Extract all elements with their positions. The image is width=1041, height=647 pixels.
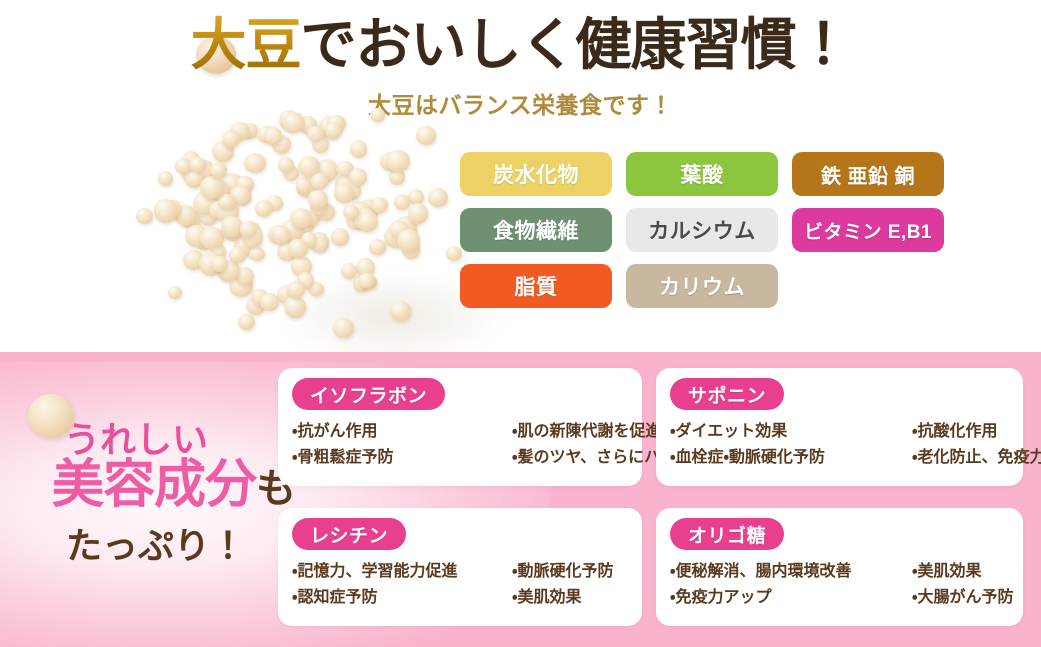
- benefit-card-label: イソフラボン: [292, 378, 445, 410]
- soybean: [349, 168, 368, 186]
- benefit-item: ・便秘解消、腸内環境改善: [670, 560, 906, 583]
- soybean: [200, 176, 223, 198]
- soybean: [222, 130, 240, 148]
- soybean: [308, 190, 328, 209]
- nutrient-tag-脂質[interactable]: 脂質: [460, 264, 612, 308]
- benefit-card-オリゴ糖: オリゴ糖・便秘解消、腸内環境改善・美肌効果・免疫力アップ・大腸がん予防: [656, 508, 1023, 626]
- nutrient-tag-カルシウム[interactable]: カルシウム: [626, 208, 778, 252]
- header-section: 大豆でおいしく健康習慣！ 大豆はバランス栄養食です！ 炭水化物葉酸鉄 亜鉛 銅食…: [0, 0, 1041, 352]
- benefit-item: ・動脈硬化予防: [512, 560, 613, 583]
- page-title: 大豆でおいしく健康習慣！: [0, 18, 1041, 74]
- soybean: [394, 194, 411, 210]
- infographic-page: 大豆でおいしく健康習慣！ 大豆はバランス栄養食です！ 炭水化物葉酸鉄 亜鉛 銅食…: [0, 0, 1041, 647]
- soybean: [333, 318, 354, 338]
- soybean: [287, 281, 304, 298]
- soybean: [136, 208, 153, 224]
- benefit-item: ・大腸がん予防: [912, 586, 1013, 609]
- benefit-item: ・美肌効果: [912, 560, 1013, 583]
- soybean: [371, 197, 387, 213]
- soybean: [158, 171, 173, 186]
- soybean: [154, 199, 178, 223]
- benefit-item: ・免疫力アップ: [670, 586, 906, 609]
- title-rest: でおいしく健康習慣！: [301, 15, 851, 77]
- benefit-item: ・認知症予防: [292, 586, 506, 609]
- beauty-section: うれしい 美容成分も たっぷり！ イソフラボン・抗がん作用・肌の新陳代謝を促進・…: [0, 352, 1041, 647]
- soybean: [168, 286, 182, 299]
- soybean: [334, 183, 354, 203]
- benefit-item: ・抗がん作用: [292, 420, 506, 443]
- soybean: [311, 173, 328, 190]
- soybean: [343, 205, 359, 219]
- nutrient-tag-row: 炭水化物葉酸鉄 亜鉛 銅: [460, 152, 960, 196]
- soybean: [260, 293, 279, 312]
- soybean: [284, 296, 306, 317]
- soybean: [238, 314, 255, 330]
- soybean: [210, 162, 227, 178]
- nutrient-tag-葉酸[interactable]: 葉酸: [626, 152, 778, 196]
- benefit-list: ・ダイエット効果・抗酸化作用・血栓症・動脈硬化予防・老化防止、免疫力向上: [670, 420, 1013, 469]
- benefit-item: ・老化防止、免疫力向上: [912, 446, 1041, 469]
- beauty-heading: うれしい 美容成分も たっぷり！: [18, 380, 280, 620]
- beauty-heading-line2: 美容成分も: [52, 460, 295, 512]
- soybean: [416, 126, 436, 145]
- soybean: [386, 150, 409, 172]
- soybean: [278, 157, 294, 173]
- benefit-item: ・美肌効果: [512, 586, 613, 609]
- beauty-heading-line2-main: 美容成分: [52, 457, 256, 514]
- benefit-item: ・抗酸化作用: [912, 420, 1041, 443]
- soybean: [408, 203, 428, 223]
- soybean: [350, 140, 368, 158]
- soybean: [331, 228, 350, 246]
- benefit-item: ・骨粗鬆症予防: [292, 446, 506, 469]
- nutrient-tag-食物繊維[interactable]: 食物繊維: [460, 208, 612, 252]
- soybean: [249, 247, 265, 262]
- soybean: [229, 247, 246, 263]
- benefit-card-label: オリゴ糖: [670, 518, 784, 550]
- soybean: [369, 239, 386, 254]
- benefit-item: ・記憶力、学習能力促進: [292, 560, 506, 583]
- soybean: [255, 200, 272, 217]
- soybean: [390, 301, 411, 321]
- nutrient-tag-ビタミン E,B1[interactable]: ビタミン E,B1: [792, 208, 944, 252]
- nutrient-tag-empty: [792, 264, 944, 308]
- title-highlight: 大豆: [191, 15, 301, 77]
- soybean: [370, 108, 385, 122]
- soybean: [240, 221, 256, 237]
- benefit-card-label: サポニン: [670, 378, 784, 410]
- benefit-list: ・便秘解消、腸内環境改善・美肌効果・免疫力アップ・大腸がん予防: [670, 560, 1013, 609]
- beauty-heading-line3: たっぷり！: [66, 528, 246, 564]
- benefit-card-label: レシチン: [292, 518, 406, 550]
- soybean-pile-image: [128, 96, 458, 328]
- nutrient-tag-row: 食物繊維カルシウムビタミン E,B1: [460, 208, 960, 252]
- soybean: [200, 227, 223, 249]
- benefit-item: ・血栓症・動脈硬化予防: [670, 446, 906, 469]
- soybean: [288, 239, 308, 258]
- benefit-card-イソフラボン: イソフラボン・抗がん作用・肌の新陳代謝を促進・骨粗鬆症予防・髪のツヤ、さらにハリ…: [278, 368, 642, 486]
- soybean: [218, 194, 235, 209]
- nutrient-tag-row: 脂質カリウム: [460, 264, 960, 308]
- soybean: [357, 211, 378, 231]
- nutrient-tag-カリウム[interactable]: カリウム: [626, 264, 778, 308]
- nutrient-tag-炭水化物[interactable]: 炭水化物: [460, 152, 612, 196]
- beauty-heading-line1: うれしい: [64, 422, 208, 458]
- nutrient-tag-grid: 炭水化物葉酸鉄 亜鉛 銅食物繊維カルシウムビタミン E,B1脂質カリウム: [460, 152, 960, 320]
- benefit-list: ・抗がん作用・肌の新陳代謝を促進・骨粗鬆症予防・髪のツヤ、さらにハリを保つ: [292, 420, 632, 469]
- benefit-item: ・ダイエット効果: [670, 420, 906, 443]
- soybean: [341, 263, 357, 279]
- soybean: [325, 123, 341, 138]
- benefit-list: ・記憶力、学習能力促進・動脈硬化予防・認知症予防・美肌効果: [292, 560, 632, 609]
- soybean: [282, 112, 305, 133]
- nutrient-tag-鉄 亜鉛 銅[interactable]: 鉄 亜鉛 銅: [792, 152, 944, 196]
- benefit-card-サポニン: サポニン・ダイエット効果・抗酸化作用・血栓症・動脈硬化予防・老化防止、免疫力向上: [656, 368, 1023, 486]
- soybean: [290, 208, 312, 228]
- soybean: [428, 188, 448, 207]
- soybean: [211, 256, 227, 271]
- soybean: [272, 226, 291, 243]
- soybean: [244, 153, 266, 173]
- benefit-card-レシチン: レシチン・記憶力、学習能力促進・動脈硬化予防・認知症予防・美肌効果: [278, 508, 642, 626]
